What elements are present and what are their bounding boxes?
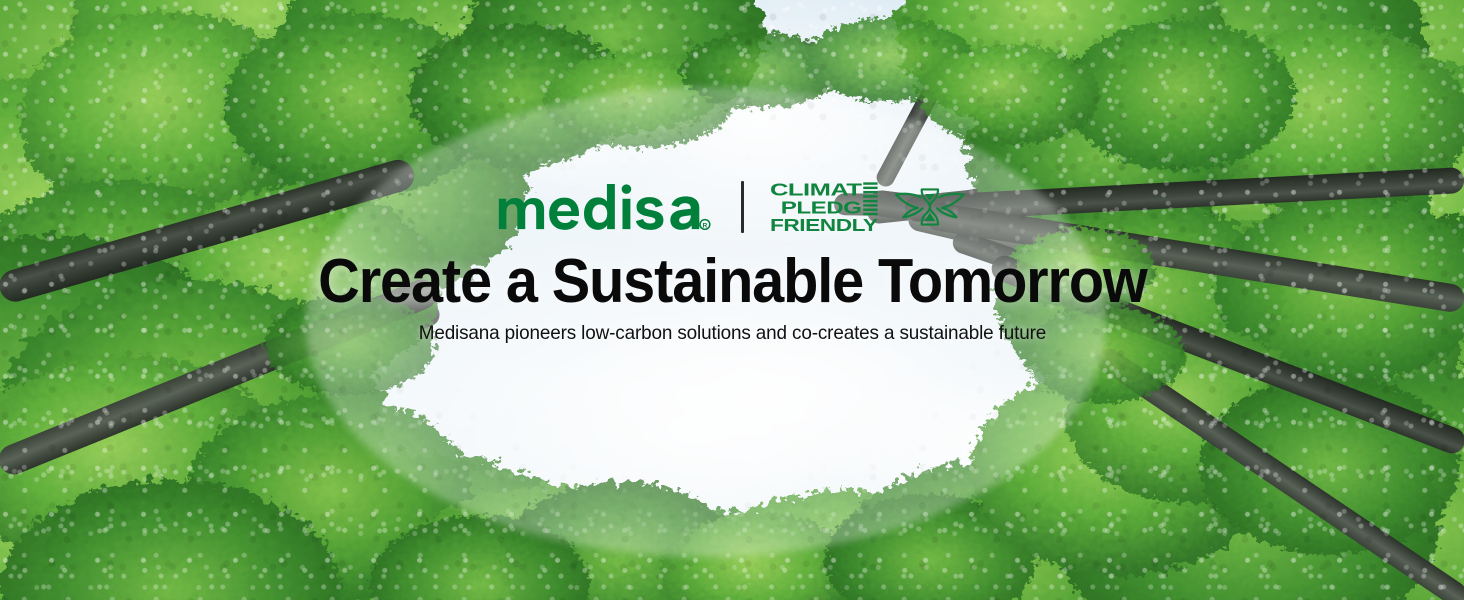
banner-content: R CLIMAT PLEDG FRIENDLY [0,176,1464,345]
svg-text:FRIENDLY: FRIENDLY [770,215,878,233]
page-subtitle: Medisana pioneers low-carbon solutions a… [418,322,1045,345]
svg-text:R: R [703,222,708,229]
stacked-bar-e-climate [863,182,877,197]
page-title: Create a Sustainable Tomorrow [318,250,1146,313]
winged-hourglass-icon [893,183,967,231]
logo-lockup: R CLIMAT PLEDG FRIENDLY [497,176,967,238]
sustainability-hero-banner: R CLIMAT PLEDG FRIENDLY [0,0,1464,600]
medisana-logo: R [497,184,710,230]
stacked-bar-e-pledge [863,200,877,215]
registered-trademark-symbol: R [700,220,710,230]
logo-divider [741,181,744,233]
climate-pledge-friendly-logo: CLIMAT PLEDG FRIENDLY [770,181,967,233]
climate-pledge-friendly-text: CLIMAT PLEDG FRIENDLY [770,181,879,233]
